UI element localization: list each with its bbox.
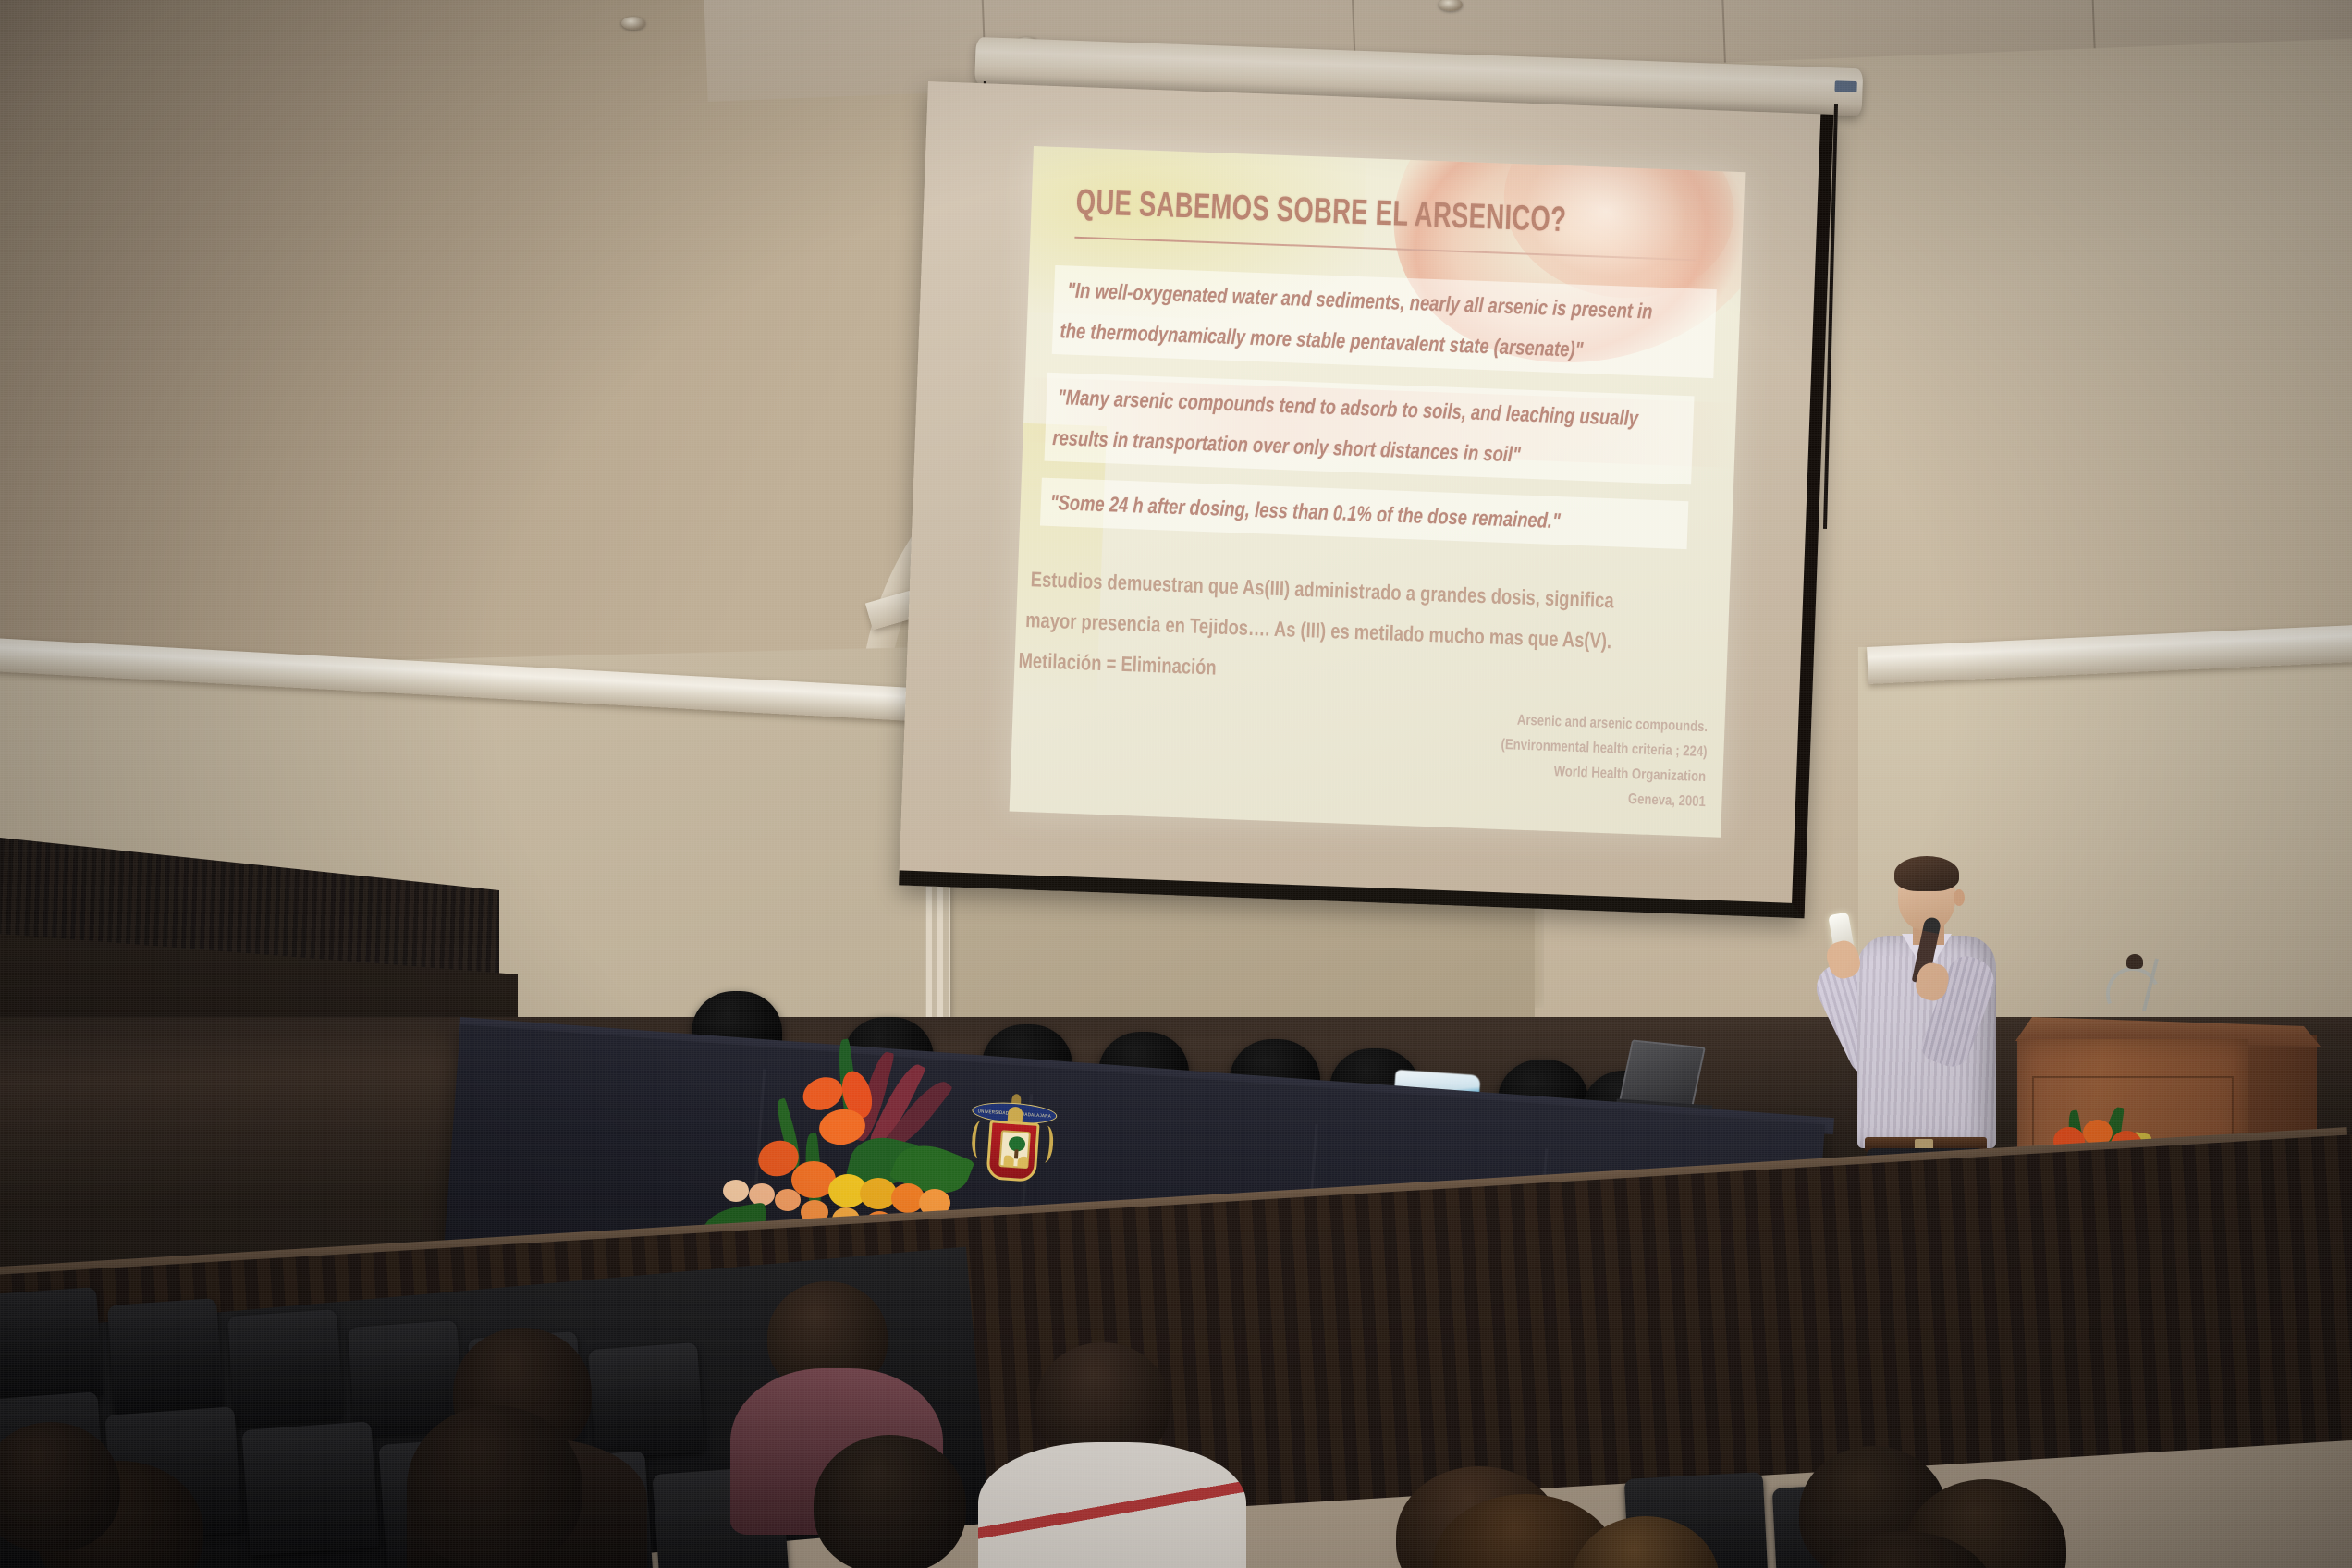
presenter-hair (1894, 856, 1959, 891)
auditorium-seat (107, 1298, 224, 1415)
auditorium-seat (0, 1287, 104, 1403)
ceiling-light-icon (621, 17, 645, 30)
audience-person-shoulders (978, 1442, 1246, 1568)
gooseneck-microphone-icon (2106, 952, 2171, 1024)
audience-person-head (814, 1435, 966, 1568)
auditorium-seat (588, 1342, 704, 1459)
auditorium-seat (241, 1421, 379, 1555)
auditorium-photo: QUE SABEMOS SOBRE EL ARSENICO? "In well-… (0, 0, 2352, 1568)
slide-citation-line-3: World Health Organization (1554, 759, 1707, 790)
audience-person-head (407, 1405, 582, 1568)
presenter-ear (1954, 889, 1965, 906)
projected-slide: QUE SABEMOS SOBRE EL ARSENICO? "In well-… (1010, 146, 1746, 838)
laptop (1619, 1039, 1706, 1109)
auditorium-seat (227, 1309, 344, 1426)
slide-body-line-3: Metilación = Eliminación (1018, 642, 1218, 686)
slide-citation-line-4: Geneva, 2001 (1627, 787, 1706, 815)
roller-end-cap (1834, 80, 1856, 92)
